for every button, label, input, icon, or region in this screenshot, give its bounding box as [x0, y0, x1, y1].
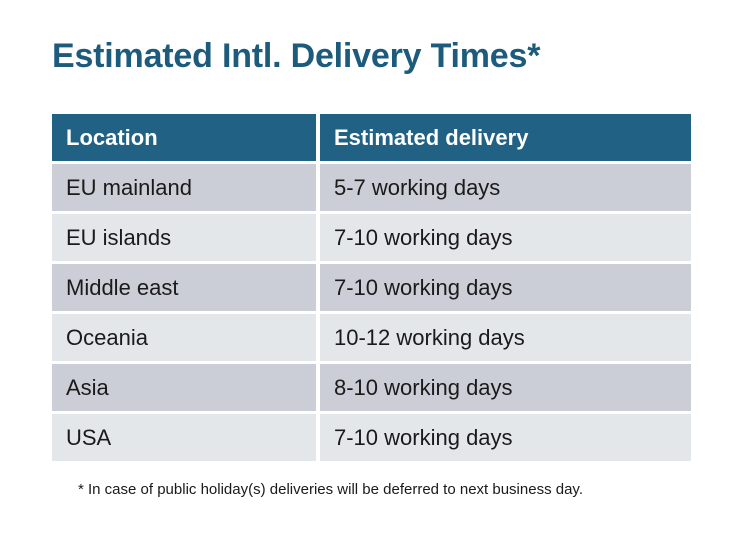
table-row: USA 7-10 working days — [52, 414, 691, 461]
column-header-location: Location — [52, 114, 316, 161]
cell-estimated-delivery: 7-10 working days — [320, 264, 691, 311]
cell-location: Middle east — [52, 264, 316, 311]
cell-location: EU mainland — [52, 164, 316, 211]
cell-location: Oceania — [52, 314, 316, 361]
footnote-text: * In case of public holiday(s) deliverie… — [78, 481, 583, 498]
estimated-delivery-times-table: Location Estimated delivery EU mainland … — [52, 114, 691, 461]
column-header-estimated-delivery: Estimated delivery — [320, 114, 691, 161]
table-row: Asia 8-10 working days — [52, 364, 691, 411]
delivery-times-page: Estimated Intl. Delivery Times* Location… — [0, 0, 745, 536]
cell-estimated-delivery: 7-10 working days — [320, 214, 691, 261]
table-header-row: Location Estimated delivery — [52, 114, 691, 161]
cell-estimated-delivery: 5-7 working days — [320, 164, 691, 211]
table-row: EU mainland 5-7 working days — [52, 164, 691, 211]
page-title: Estimated Intl. Delivery Times* — [52, 37, 540, 76]
cell-estimated-delivery: 8-10 working days — [320, 364, 691, 411]
table-row: Middle east 7-10 working days — [52, 264, 691, 311]
table-row: EU islands 7-10 working days — [52, 214, 691, 261]
cell-estimated-delivery: 10-12 working days — [320, 314, 691, 361]
table-row: Oceania 10-12 working days — [52, 314, 691, 361]
cell-location: USA — [52, 414, 316, 461]
cell-estimated-delivery: 7-10 working days — [320, 414, 691, 461]
cell-location: Asia — [52, 364, 316, 411]
cell-location: EU islands — [52, 214, 316, 261]
